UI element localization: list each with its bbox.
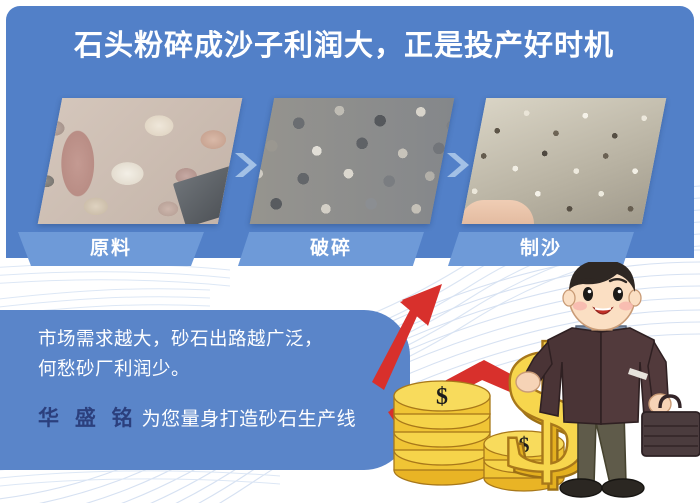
process-label-crushing: 破碎 [238,232,424,266]
process-label-text: 破碎 [238,232,424,266]
tagline-text: 为您量身打造砂石生产线 [142,409,357,430]
svg-text:$: $ [436,384,448,410]
manufactured-sand-photo [462,98,666,224]
process-label-text: 原料 [18,232,204,266]
process-label-raw-material: 原料 [18,232,204,266]
chevron-right-icon [232,150,258,180]
process-card-raw-material[interactable] [38,98,242,224]
chevron-right-icon [444,150,470,180]
copy-line-2: 何愁砂厂利润少。 [38,354,398,384]
gold-coin-stack-icon: $ [394,381,490,485]
hand-holding-sand [462,200,534,224]
process-card-crushing[interactable] [250,98,454,224]
process-label-sand-making: 制沙 [448,232,634,266]
copy-block: 市场需求越大，砂石出路越广泛， 何愁砂厂利润少。 华 盛 铭为您量身打造砂石生产… [38,324,398,432]
river-pebbles-photo [38,98,242,224]
promo-banner: 石头粉碎成沙子利润大，正是投产好时机 原料 [0,0,700,503]
page-title: 石头粉碎成沙子利润大，正是投产好时机 [0,26,688,66]
process-label-text: 制沙 [448,232,634,266]
copy-line-1: 市场需求越大，砂石出路越广泛， [38,324,398,354]
brand-tagline: 华 盛 铭为您量身打造砂石生产线 [38,402,398,432]
businessman-with-money-illustration: $ $ $ $ [372,262,700,503]
brand-name: 华 盛 铭 [38,407,138,430]
crushed-gravel-photo [250,98,454,224]
process-card-sand-making[interactable] [462,98,666,224]
